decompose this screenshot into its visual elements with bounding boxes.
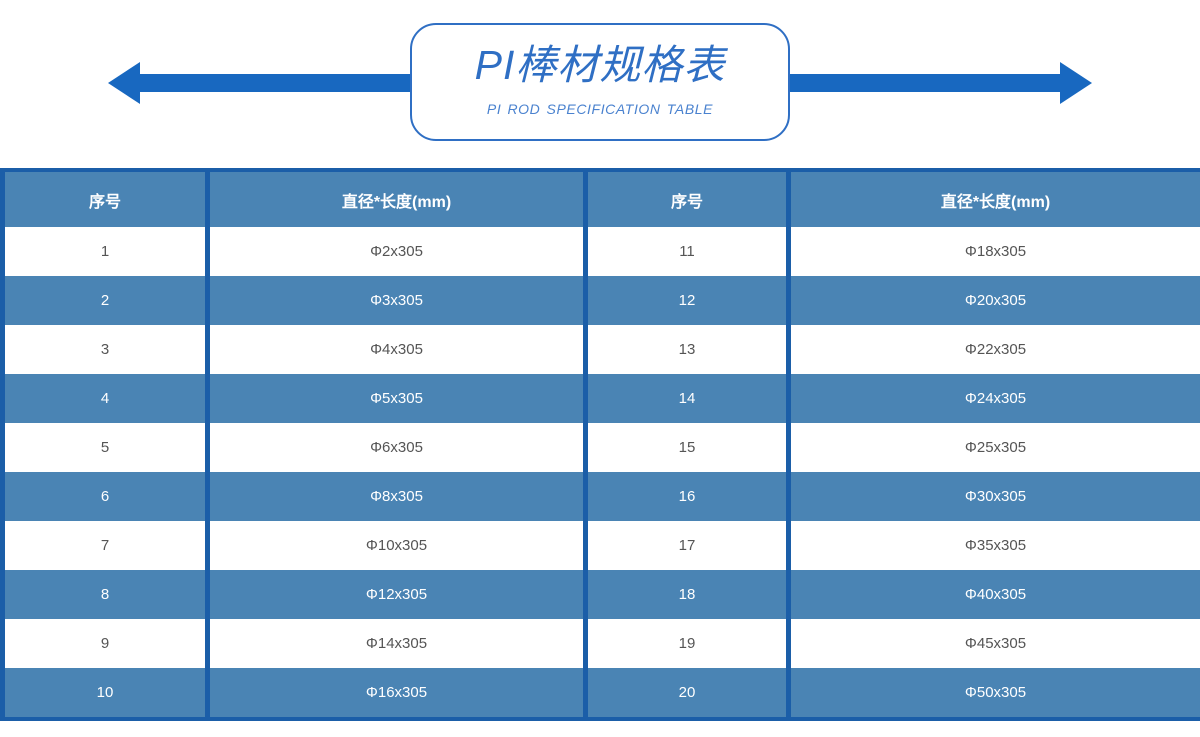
cell-spec-right: Φ45x305 bbox=[789, 619, 1200, 668]
cell-spec-left: Φ3x305 bbox=[208, 276, 586, 325]
banner: PI棒材规格表 PI Rod Specification Table bbox=[0, 0, 1200, 168]
cell-no-right: 19 bbox=[586, 619, 789, 668]
cell-spec-left: Φ6x305 bbox=[208, 423, 586, 472]
cell-no-left: 1 bbox=[3, 227, 208, 276]
spec-table-container: 序号 直径*长度(mm) 序号 直径*长度(mm) 1Φ2x30511Φ18x3… bbox=[0, 168, 1200, 721]
left-arrow-shaft bbox=[138, 74, 438, 92]
table-body: 1Φ2x30511Φ18x3052Φ3x30512Φ20x3053Φ4x3051… bbox=[3, 227, 1200, 719]
table-header: 序号 直径*长度(mm) 序号 直径*长度(mm) bbox=[3, 170, 1200, 227]
table-row: 3Φ4x30513Φ22x305 bbox=[3, 325, 1200, 374]
table-row: 10Φ16x30520Φ50x305 bbox=[3, 668, 1200, 719]
cell-spec-right: Φ40x305 bbox=[789, 570, 1200, 619]
cell-spec-left: Φ5x305 bbox=[208, 374, 586, 423]
cell-no-right: 15 bbox=[586, 423, 789, 472]
column-header-spec-left: 直径*长度(mm) bbox=[208, 170, 586, 227]
cell-spec-right: Φ25x305 bbox=[789, 423, 1200, 472]
table-row: 5Φ6x30515Φ25x305 bbox=[3, 423, 1200, 472]
table-row: 1Φ2x30511Φ18x305 bbox=[3, 227, 1200, 276]
cell-no-left: 7 bbox=[3, 521, 208, 570]
cell-no-left: 10 bbox=[3, 668, 208, 719]
cell-spec-left: Φ10x305 bbox=[208, 521, 586, 570]
right-arrow-shaft bbox=[762, 74, 1062, 92]
cell-no-left: 4 bbox=[3, 374, 208, 423]
cell-no-left: 3 bbox=[3, 325, 208, 374]
cell-no-right: 12 bbox=[586, 276, 789, 325]
right-arrow-icon bbox=[1060, 62, 1092, 104]
cell-no-right: 20 bbox=[586, 668, 789, 719]
cell-no-right: 13 bbox=[586, 325, 789, 374]
cell-spec-right: Φ30x305 bbox=[789, 472, 1200, 521]
cell-spec-left: Φ12x305 bbox=[208, 570, 586, 619]
table-row: 8Φ12x30518Φ40x305 bbox=[3, 570, 1200, 619]
cell-spec-right: Φ24x305 bbox=[789, 374, 1200, 423]
cell-spec-right: Φ20x305 bbox=[789, 276, 1200, 325]
cell-no-right: 18 bbox=[586, 570, 789, 619]
cell-spec-left: Φ8x305 bbox=[208, 472, 586, 521]
column-header-no-right: 序号 bbox=[586, 170, 789, 227]
page-title: PI棒材规格表 bbox=[475, 44, 726, 87]
cell-no-left: 6 bbox=[3, 472, 208, 521]
cell-no-right: 17 bbox=[586, 521, 789, 570]
column-header-spec-right: 直径*长度(mm) bbox=[789, 170, 1200, 227]
left-arrow-icon bbox=[108, 62, 140, 104]
cell-no-right: 14 bbox=[586, 374, 789, 423]
spec-table: 序号 直径*长度(mm) 序号 直径*长度(mm) 1Φ2x30511Φ18x3… bbox=[0, 168, 1200, 721]
cell-no-left: 2 bbox=[3, 276, 208, 325]
table-row: 4Φ5x30514Φ24x305 bbox=[3, 374, 1200, 423]
cell-spec-left: Φ14x305 bbox=[208, 619, 586, 668]
cell-spec-right: Φ35x305 bbox=[789, 521, 1200, 570]
column-header-no-left: 序号 bbox=[3, 170, 208, 227]
title-box: PI棒材规格表 PI Rod Specification Table bbox=[410, 23, 790, 141]
cell-spec-right: Φ22x305 bbox=[789, 325, 1200, 374]
page-subtitle: PI Rod Specification Table bbox=[487, 97, 713, 120]
table-row: 7Φ10x30517Φ35x305 bbox=[3, 521, 1200, 570]
table-header-row: 序号 直径*长度(mm) 序号 直径*长度(mm) bbox=[3, 170, 1200, 227]
cell-spec-left: Φ2x305 bbox=[208, 227, 586, 276]
cell-no-left: 5 bbox=[3, 423, 208, 472]
cell-no-right: 16 bbox=[586, 472, 789, 521]
cell-spec-left: Φ4x305 bbox=[208, 325, 586, 374]
cell-spec-right: Φ50x305 bbox=[789, 668, 1200, 719]
cell-no-left: 8 bbox=[3, 570, 208, 619]
cell-spec-left: Φ16x305 bbox=[208, 668, 586, 719]
cell-no-right: 11 bbox=[586, 227, 789, 276]
table-row: 6Φ8x30516Φ30x305 bbox=[3, 472, 1200, 521]
cell-spec-right: Φ18x305 bbox=[789, 227, 1200, 276]
table-row: 2Φ3x30512Φ20x305 bbox=[3, 276, 1200, 325]
table-row: 9Φ14x30519Φ45x305 bbox=[3, 619, 1200, 668]
cell-no-left: 9 bbox=[3, 619, 208, 668]
